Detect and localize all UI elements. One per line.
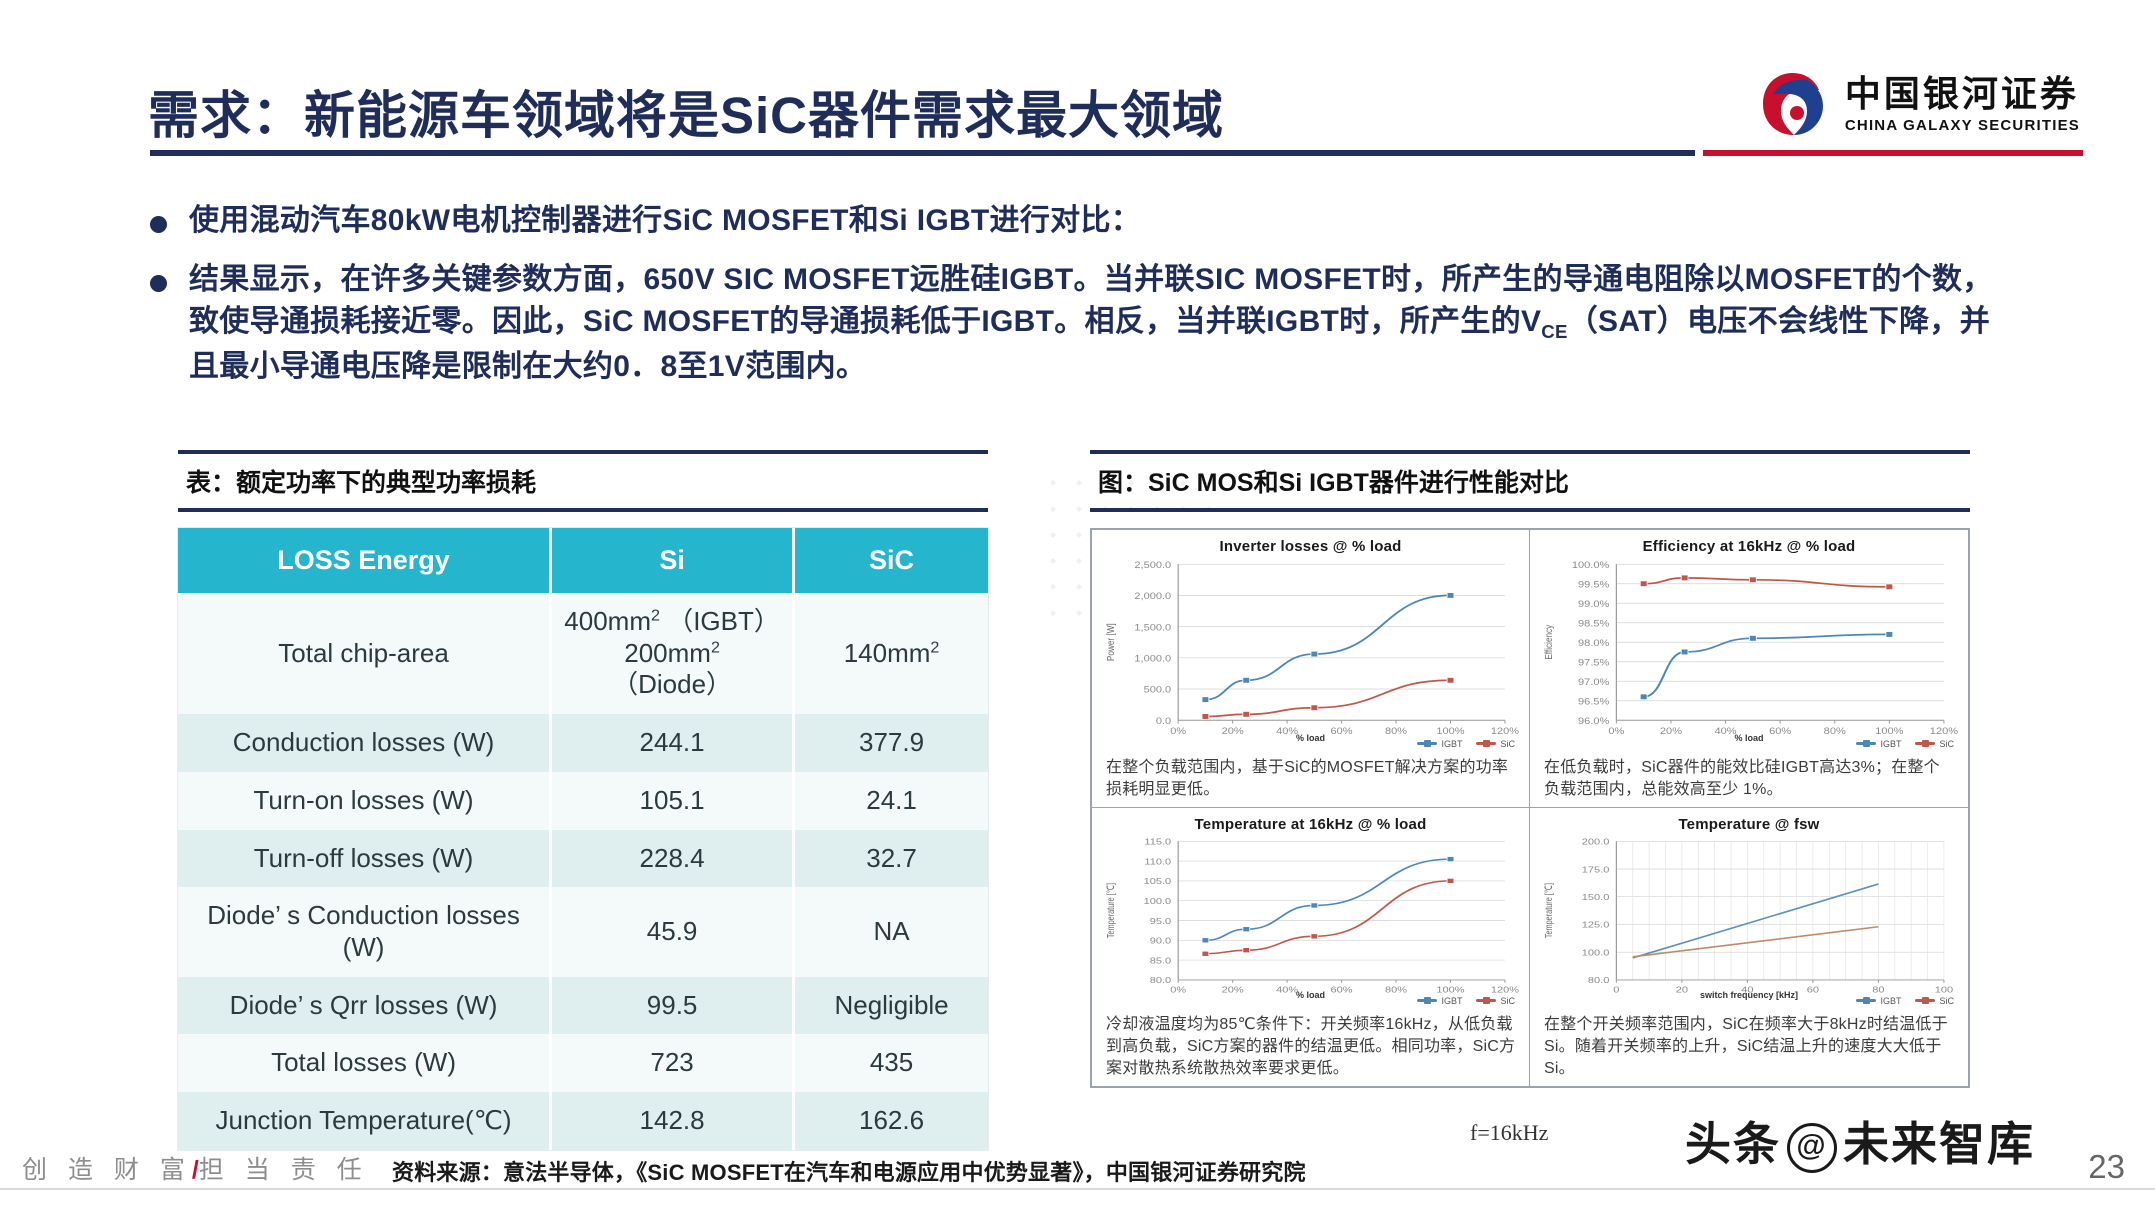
svg-text:100%: 100% xyxy=(1436,727,1464,737)
table-row: Diode’ s Qrr losses (W) 99.5 Negligible xyxy=(178,977,988,1035)
legend-swatch-icon xyxy=(1476,742,1496,745)
table-cell-label: Diode’ s Qrr losses (W) xyxy=(178,977,551,1035)
table-header-cell: Si xyxy=(551,528,794,593)
svg-text:99.5%: 99.5% xyxy=(1578,580,1609,590)
svg-text:95.0: 95.0 xyxy=(1150,917,1171,926)
svg-text:100%: 100% xyxy=(1875,727,1903,737)
chip-area-sic: 140mm xyxy=(844,638,931,668)
chart-svg: 0.0500.01,000.01,500.02,000.02,500.00%20… xyxy=(1100,556,1521,745)
chip-area-si-1-tail: （IGBT） xyxy=(660,606,780,636)
chip-area-si-2: 200mm xyxy=(624,638,711,668)
company-slogan: 创 造 财 富/担 当 责 任 xyxy=(22,1150,369,1186)
svg-text:98.0%: 98.0% xyxy=(1578,639,1609,649)
chart-note: 在整个负载范围内，基于SiC的MOSFET解决方案的功率损耗明显更低。 xyxy=(1100,751,1521,803)
legend-swatch-icon xyxy=(1856,742,1876,745)
page-number: 23 xyxy=(2088,1148,2125,1186)
svg-text:60%: 60% xyxy=(1331,986,1354,995)
bullet-text-pre: 使用混动汽车80kW电机控制器进行SiC MOSFET和Si IGBT进行对比： xyxy=(189,204,1141,237)
chart-plot-area: 80.085.090.095.0100.0105.0110.0115.00%20… xyxy=(1100,834,1521,1002)
svg-text:96.5%: 96.5% xyxy=(1578,697,1609,707)
table-cell-si: 105.1 xyxy=(551,772,794,830)
watermark-right: 未来智库 xyxy=(1843,1118,2035,1170)
table-cell-si: 228.4 xyxy=(551,830,794,888)
table-cell-label: Conduction losses (W) xyxy=(178,714,551,772)
svg-text:200.0: 200.0 xyxy=(1582,838,1610,847)
svg-text:85.0: 85.0 xyxy=(1150,957,1171,966)
logo-chinese-name: 中国银河证券 xyxy=(1845,76,2080,112)
svg-text:100.0: 100.0 xyxy=(1144,897,1172,906)
chart-plot-area: 80.0100.0125.0150.0175.0200.002040608010… xyxy=(1538,834,1960,1002)
legend-swatch-icon xyxy=(1417,742,1437,745)
title-underline xyxy=(150,150,1695,156)
svg-text:Efficiency: Efficiency xyxy=(1543,624,1554,659)
table-cell-sic: 377.9 xyxy=(794,714,988,772)
table-cell-sic: 32.7 xyxy=(794,830,988,888)
svg-text:20%: 20% xyxy=(1660,727,1682,737)
chart-svg: 96.0%96.5%97.0%97.5%98.0%98.5%99.0%99.5%… xyxy=(1538,556,1960,745)
table-row: Total chip-area 400mm2 （IGBT） 200mm2 （Di… xyxy=(178,593,988,714)
svg-text:80.0: 80.0 xyxy=(1588,977,1609,986)
table-row: Diode’ s Conduction losses (W) 45.9 NA xyxy=(178,887,988,976)
chart-plot-area: 96.0%96.5%97.0%97.5%98.0%98.5%99.0%99.5%… xyxy=(1538,556,1960,745)
svg-text:80%: 80% xyxy=(1385,727,1407,737)
table-cell-label: Turn-on losses (W) xyxy=(178,772,551,830)
table-cell-si: 400mm2 （IGBT） 200mm2 （Diode） xyxy=(551,593,794,714)
svg-text:Temperature [℃]: Temperature [℃] xyxy=(1105,883,1116,938)
svg-text:0.0: 0.0 xyxy=(1156,717,1172,727)
table-cell-label: Total losses (W) xyxy=(178,1034,551,1092)
svg-text:99.0%: 99.0% xyxy=(1578,600,1609,610)
logo-text-block: 中国银河证券 CHINA GALAXY SECURITIES xyxy=(1845,76,2080,133)
legend-swatch-icon xyxy=(1856,999,1876,1002)
chart-title: Temperature at 16kHz @ % load xyxy=(1100,816,1521,833)
table-cell-sic: 435 xyxy=(794,1034,988,1092)
table-cell-label: Turn-off losses (W) xyxy=(178,830,551,888)
svg-text:100: 100 xyxy=(1935,986,1953,995)
figure-caption: 图：SiC MOS和Si IGBT器件进行性能对比 xyxy=(1090,450,1970,512)
slogan-slash: / xyxy=(192,1156,199,1184)
legend-swatch-icon xyxy=(1915,742,1935,745)
svg-text:0%: 0% xyxy=(1170,727,1186,737)
table-row: Turn-off losses (W) 228.4 32.7 xyxy=(178,830,988,888)
table-header-cell: LOSS Energy xyxy=(178,528,551,593)
svg-text:110.0: 110.0 xyxy=(1144,858,1171,867)
chart-title: Efficiency at 16kHz @ % load xyxy=(1538,538,1960,555)
logo-underline xyxy=(1703,150,2083,156)
table-cell-si: 99.5 xyxy=(551,977,794,1035)
table-row: Conduction losses (W) 244.1 377.9 xyxy=(178,714,988,772)
table-header-row: LOSS Energy Si SiC xyxy=(178,528,988,593)
legend-swatch-icon xyxy=(1417,999,1437,1002)
svg-text:100%: 100% xyxy=(1436,986,1465,995)
table-cell-si: 244.1 xyxy=(551,714,794,772)
svg-text:120%: 120% xyxy=(1491,986,1520,995)
slide-root: 需求：新能源车领域将是SiC器件需求最大领域 中国银河证券 CHINA GALA… xyxy=(0,0,2155,1212)
table-row: Junction Temperature(℃) 142.8 162.6 xyxy=(178,1092,988,1150)
svg-text:80%: 80% xyxy=(1385,986,1408,995)
svg-text:96.0%: 96.0% xyxy=(1578,717,1609,727)
svg-text:500.0: 500.0 xyxy=(1144,686,1172,696)
svg-text:1,000.0: 1,000.0 xyxy=(1134,654,1171,664)
table-cell-label: Total chip-area xyxy=(178,593,551,714)
chart-quadrant-inverter-losses: Inverter losses @ % load 0.0500.01,000.0… xyxy=(1092,530,1530,808)
superscript: 2 xyxy=(651,606,660,624)
svg-text:100.0: 100.0 xyxy=(1582,949,1610,958)
superscript: 2 xyxy=(930,638,939,656)
svg-text:120%: 120% xyxy=(1491,727,1519,737)
chip-area-si-2-tail: （Diode） xyxy=(612,669,732,699)
chart-quadrant-efficiency: Efficiency at 16kHz @ % load 96.0%96.5%9… xyxy=(1530,530,1968,808)
slogan-right: 担 当 责 任 xyxy=(199,1156,369,1184)
bullet-list: 使用混动汽车80kW电机控制器进行SiC MOSFET和Si IGBT进行对比：… xyxy=(150,200,2020,404)
bullet-text: 使用混动汽车80kW电机控制器进行SiC MOSFET和Si IGBT进行对比： xyxy=(189,200,1141,243)
fsw-annotation: f=16kHz xyxy=(1470,1120,1548,1146)
chart-title: Temperature @ fsw xyxy=(1538,816,1960,833)
legend-swatch-icon xyxy=(1915,999,1935,1002)
watermark: 头条@未来智库 xyxy=(1685,1108,2035,1174)
svg-text:98.5%: 98.5% xyxy=(1578,619,1609,629)
performance-comparison-figure: Inverter losses @ % load 0.0500.01,000.0… xyxy=(1090,528,1970,1088)
svg-text:0%: 0% xyxy=(1608,727,1624,737)
bullet-text: 结果显示，在许多关键参数方面，650V SIC MOSFET远胜硅IGBT。当并… xyxy=(189,259,2020,389)
svg-text:175.0: 175.0 xyxy=(1582,866,1610,875)
svg-text:2,500.0: 2,500.0 xyxy=(1134,561,1171,571)
table-cell-si: 723 xyxy=(551,1034,794,1092)
bullet-item: 结果显示，在许多关键参数方面，650V SIC MOSFET远胜硅IGBT。当并… xyxy=(150,259,2020,389)
svg-text:40: 40 xyxy=(1741,986,1753,995)
galaxy-logo-icon xyxy=(1757,67,1831,141)
watermark-left: 头条 xyxy=(1685,1118,1781,1170)
svg-text:97.5%: 97.5% xyxy=(1578,658,1609,668)
svg-text:80: 80 xyxy=(1872,986,1884,995)
svg-text:120%: 120% xyxy=(1930,727,1958,737)
svg-text:115.0: 115.0 xyxy=(1144,838,1171,847)
chart-quadrant-temperature-fsw: Temperature @ fsw 80.0100.0125.0150.0175… xyxy=(1530,808,1968,1086)
svg-text:80.0: 80.0 xyxy=(1150,977,1171,986)
svg-text:20: 20 xyxy=(1676,986,1688,995)
watermark-at-icon: @ xyxy=(1787,1123,1837,1173)
chart-note: 在整个开关频率范围内，SiC在频率大于8kHz时结温低于Si。随着开关频率的上升… xyxy=(1538,1008,1960,1082)
company-logo: 中国银河证券 CHINA GALAXY SECURITIES xyxy=(1757,62,2080,146)
table-cell-sic: NA xyxy=(794,887,988,976)
chart-svg: 80.0100.0125.0150.0175.0200.002040608010… xyxy=(1538,834,1960,1002)
table-cell-label: Junction Temperature(℃) xyxy=(178,1092,551,1150)
chart-svg: 80.085.090.095.0100.0105.0110.0115.00%20… xyxy=(1100,834,1521,1002)
source-citation: 资料来源：意法半导体，《SiC MOSFET在汽车和电源应用中优势显著》，中国银… xyxy=(392,1155,1306,1187)
svg-text:90.0: 90.0 xyxy=(1150,937,1171,946)
svg-text:40%: 40% xyxy=(1276,986,1299,995)
svg-text:100.0%: 100.0% xyxy=(1572,561,1609,571)
chart-note: 在低负载时，SiC器件的能效比硅IGBT高达3%；在整个负载范围内，总能效高至少… xyxy=(1538,751,1960,803)
svg-text:40%: 40% xyxy=(1276,727,1298,737)
svg-text:Temperature [℃]: Temperature [℃] xyxy=(1543,883,1554,938)
svg-text:60%: 60% xyxy=(1769,727,1791,737)
page-title: 需求：新能源车领域将是SiC器件需求最大领域 xyxy=(148,74,1224,148)
svg-text:0: 0 xyxy=(1613,986,1619,995)
table-cell-sic: 162.6 xyxy=(794,1092,988,1150)
table-cell-si: 142.8 xyxy=(551,1092,794,1150)
table-cell-sic: 24.1 xyxy=(794,772,988,830)
chart-quadrant-temperature-load: Temperature at 16kHz @ % load 80.085.090… xyxy=(1092,808,1530,1086)
bullet-dot-icon xyxy=(150,216,167,233)
table-header-cell: SiC xyxy=(794,528,988,593)
bullet-dot-icon xyxy=(150,275,167,292)
table-cell-sic: Negligible xyxy=(794,977,988,1035)
chip-area-si-1: 400mm xyxy=(564,606,651,636)
svg-text:2,000.0: 2,000.0 xyxy=(1134,592,1171,602)
superscript: 2 xyxy=(711,638,720,656)
svg-text:125.0: 125.0 xyxy=(1582,921,1610,930)
chart-note: 冷却液温度均为85℃条件下：开关频率16kHz，从低负载到高负载，SiC方案的器… xyxy=(1100,1008,1521,1082)
svg-text:80%: 80% xyxy=(1824,727,1846,737)
svg-text:60%: 60% xyxy=(1331,727,1353,737)
svg-text:20%: 20% xyxy=(1222,727,1244,737)
logo-english-name: CHINA GALAXY SECURITIES xyxy=(1845,118,2080,133)
footer-divider xyxy=(0,1188,2155,1190)
chart-plot-area: 0.0500.01,000.01,500.02,000.02,500.00%20… xyxy=(1100,556,1521,745)
table-cell-sic: 140mm2 xyxy=(794,593,988,714)
table-cell-label: Diode’ s Conduction losses (W) xyxy=(178,887,551,976)
svg-text:1,500.0: 1,500.0 xyxy=(1134,623,1171,633)
table-cell-si: 45.9 xyxy=(551,887,794,976)
svg-text:Power [W]: Power [W] xyxy=(1105,623,1116,661)
table-caption: 表：额定功率下的典型功率损耗 xyxy=(178,450,988,512)
svg-text:97.0%: 97.0% xyxy=(1578,678,1609,688)
table-row: Total losses (W) 723 435 xyxy=(178,1034,988,1092)
power-loss-table: LOSS Energy Si SiC Total chip-area 400mm… xyxy=(178,528,988,1150)
bullet-item: 使用混动汽车80kW电机控制器进行SiC MOSFET和Si IGBT进行对比： xyxy=(150,200,2020,243)
bullet-text-subscript: CE xyxy=(1541,321,1567,342)
svg-text:0%: 0% xyxy=(1170,986,1186,995)
svg-text:60: 60 xyxy=(1807,986,1819,995)
svg-text:150.0: 150.0 xyxy=(1582,893,1610,902)
svg-text:40%: 40% xyxy=(1715,727,1737,737)
legend-swatch-icon xyxy=(1476,999,1496,1002)
svg-text:105.0: 105.0 xyxy=(1144,878,1172,887)
svg-text:20%: 20% xyxy=(1222,986,1245,995)
table-row: Turn-on losses (W) 105.1 24.1 xyxy=(178,772,988,830)
slogan-left: 创 造 财 富 xyxy=(22,1156,192,1184)
chart-title: Inverter losses @ % load xyxy=(1100,538,1521,555)
